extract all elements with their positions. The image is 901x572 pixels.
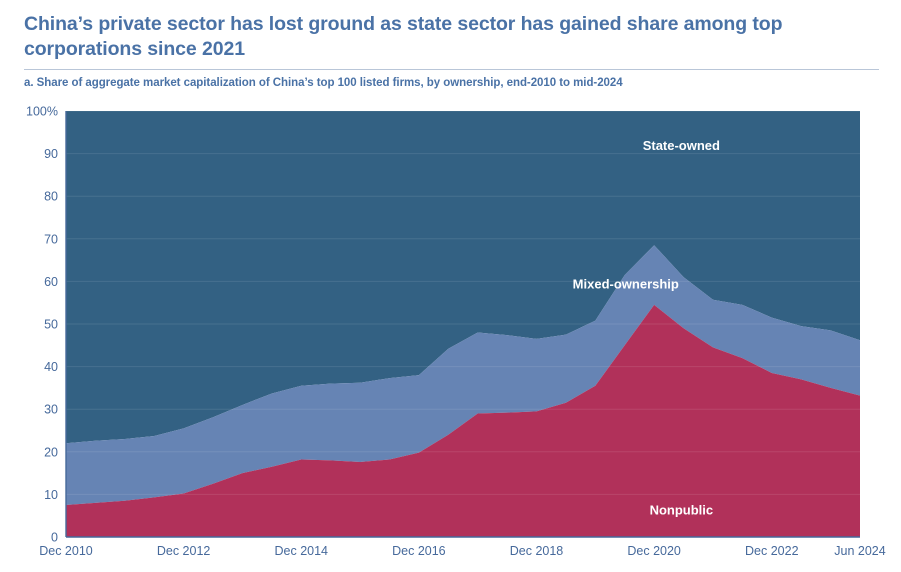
y-axis-tick-label: 10 xyxy=(44,488,58,502)
plot-area: 0102030405060708090100%Dec 2010Dec 2012D… xyxy=(0,0,901,572)
y-axis-tick-label: 40 xyxy=(44,360,58,374)
chart-figure: China’s private sector has lost ground a… xyxy=(0,0,901,572)
stacked-area-chart: 0102030405060708090100%Dec 2010Dec 2012D… xyxy=(0,0,901,572)
y-axis-tick-label: 100% xyxy=(26,105,58,119)
y-axis-tick-label: 70 xyxy=(44,232,58,246)
y-axis-tick-label: 0 xyxy=(51,531,58,545)
y-axis-tick-label: 50 xyxy=(44,318,58,332)
x-axis-tick-label: Dec 2010 xyxy=(39,544,93,558)
series-label-state-owned: State-owned xyxy=(643,138,720,153)
series-label-nonpublic: Nonpublic xyxy=(650,502,714,517)
y-axis-tick-label: 60 xyxy=(44,275,58,289)
x-axis-tick-label: Jun 2024 xyxy=(834,544,885,558)
series-label-mixed-ownership: Mixed-ownership xyxy=(573,277,679,292)
x-axis-tick-label: Dec 2014 xyxy=(275,544,329,558)
x-axis-tick-label: Dec 2016 xyxy=(392,544,446,558)
y-axis-tick-label: 80 xyxy=(44,190,58,204)
x-axis-tick-label: Dec 2022 xyxy=(745,544,799,558)
y-axis-tick-label: 20 xyxy=(44,445,58,459)
x-axis-tick-label: Dec 2012 xyxy=(157,544,211,558)
x-axis-tick-label: Dec 2020 xyxy=(627,544,681,558)
y-axis-tick-label: 30 xyxy=(44,403,58,417)
x-axis-tick-label: Dec 2018 xyxy=(510,544,564,558)
y-axis-tick-label: 90 xyxy=(44,147,58,161)
